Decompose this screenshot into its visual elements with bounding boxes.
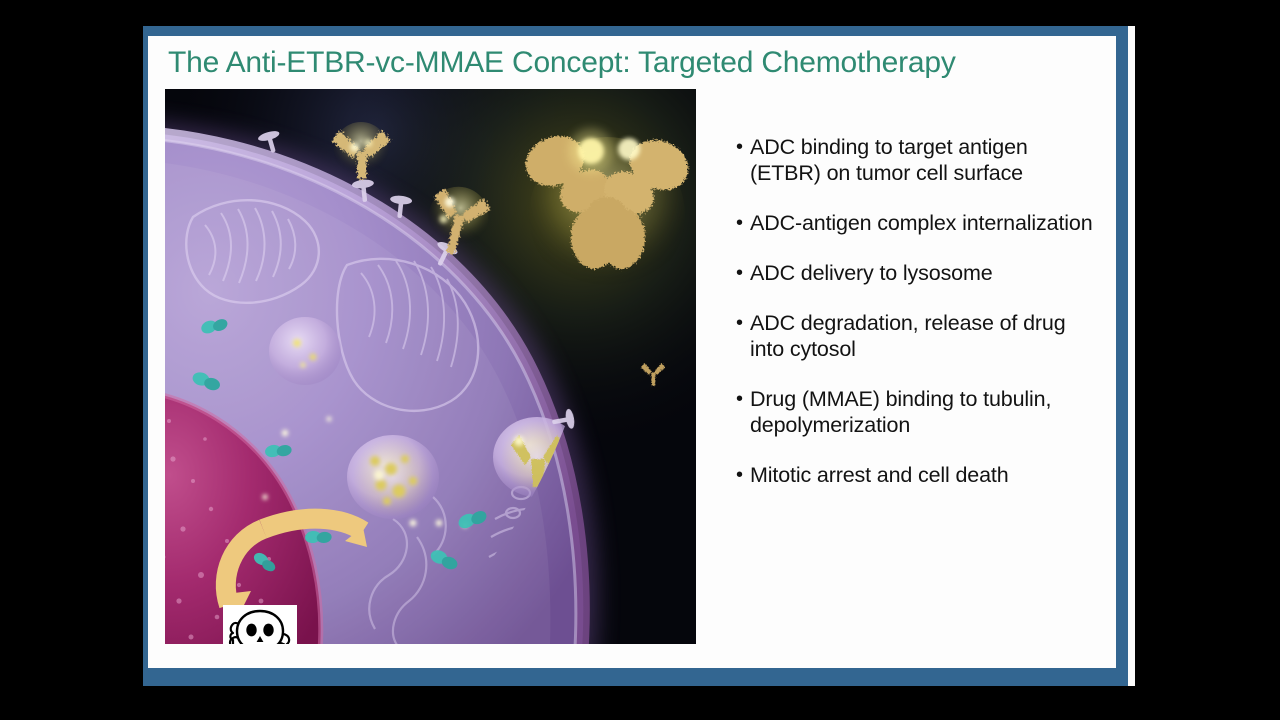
bullet-marker-icon: • <box>736 310 750 336</box>
list-item: • ADC degradation, release of drug into … <box>736 310 1104 362</box>
illustration-graphic <box>165 89 696 644</box>
endosome-vesicle <box>269 317 341 385</box>
bullet-text: ADC-antigen complex internalization <box>750 210 1104 236</box>
bullet-marker-icon: • <box>736 210 750 236</box>
page-title: The Anti-ETBR-vc-MMAE Concept: Targeted … <box>168 44 1088 82</box>
skull-icon <box>237 611 283 644</box>
bullet-marker-icon: • <box>736 134 750 160</box>
list-item: • Mitotic arrest and cell death <box>736 462 1104 488</box>
list-item: • ADC delivery to lysosome <box>736 260 1104 286</box>
bullet-text: ADC delivery to lysosome <box>750 260 1104 286</box>
lysosome-vesicle <box>347 435 439 519</box>
bullet-text: ADC degradation, release of drug into cy… <box>750 310 1104 362</box>
slide-frame-right-gutter <box>1128 26 1135 686</box>
bullet-text: Drug (MMAE) binding to tubulin, depolyme… <box>750 386 1104 438</box>
bullet-list: • ADC binding to target antigen (ETBR) o… <box>736 134 1104 512</box>
tumor-cell-illustration <box>165 89 696 644</box>
bullet-marker-icon: • <box>736 462 750 488</box>
list-item: • ADC-antigen complex internalization <box>736 210 1104 236</box>
bullet-text: ADC binding to target antigen (ETBR) on … <box>750 134 1104 186</box>
video-stage: The Anti-ETBR-vc-MMAE Concept: Targeted … <box>0 0 1280 720</box>
list-item: • ADC binding to target antigen (ETBR) o… <box>736 134 1104 186</box>
list-item: • Drug (MMAE) binding to tubulin, depoly… <box>736 386 1104 438</box>
bullet-marker-icon: • <box>736 386 750 412</box>
slide-canvas: The Anti-ETBR-vc-MMAE Concept: Targeted … <box>148 36 1116 668</box>
hazard-skull-tile <box>223 605 297 644</box>
bullet-marker-icon: • <box>736 260 750 286</box>
bullet-text: Mitotic arrest and cell death <box>750 462 1104 488</box>
